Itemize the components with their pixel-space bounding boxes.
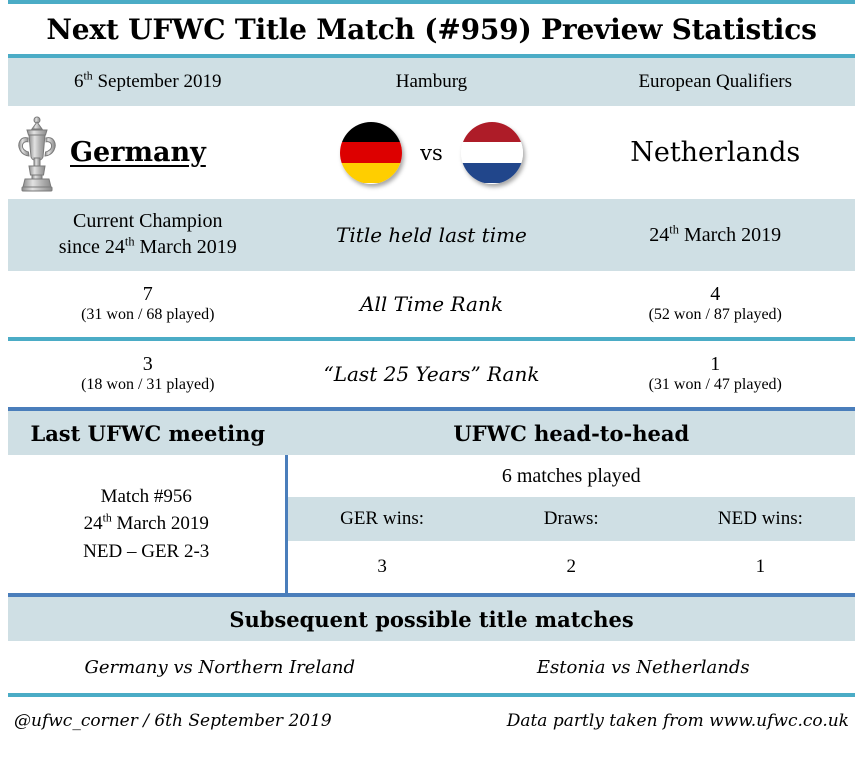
page-title-container: Next UFWC Title Match (#959) Preview Sta… [8, 4, 855, 54]
match-date-rest: September 2019 [93, 71, 222, 92]
away-all-time-rank-detail: (52 won / 87 played) [575, 306, 855, 324]
home-champion-label: Current Champion [8, 209, 288, 235]
match-venue: Hamburg [288, 71, 576, 93]
teams-row: Germany vs Netherlands [8, 106, 855, 199]
away-last25-rank-detail: (31 won / 47 played) [575, 376, 855, 394]
footer: @ufwc_corner / 6th September 2019 Data p… [8, 697, 855, 745]
h2h-header-ger-wins: GER wins: [288, 508, 477, 530]
match-meta-row: 6th September 2019 Hamburg European Qual… [8, 58, 855, 106]
away-all-time-rank: 4 (52 won / 87 played) [575, 283, 855, 324]
h2h-header-draws: Draws: [477, 508, 666, 530]
match-date-ordinal: th [84, 70, 93, 83]
h2h-header-ned-wins: NED wins: [666, 508, 855, 530]
away-last25-rank: 1 (31 won / 47 played) [575, 353, 855, 394]
last-meeting-header: Last UFWC meeting [8, 421, 288, 446]
page-title: Next UFWC Title Match (#959) Preview Sta… [46, 13, 816, 46]
away-team-name: Netherlands [575, 137, 855, 168]
h2h-value-ned-wins: 1 [666, 556, 855, 578]
last-meeting-date: 24th March 2019 [83, 510, 209, 538]
h2h-value-ger-wins: 3 [288, 556, 477, 578]
head-to-head-header: UFWC head-to-head [288, 421, 855, 446]
last-meeting-score: NED – GER 2-3 [83, 538, 209, 566]
home-last25-rank-value: 3 [8, 353, 288, 376]
match-date: 6th September 2019 [8, 71, 288, 93]
subsequent-header: Subsequent possible title matches [8, 597, 855, 641]
last-meeting-match-number: Match #956 [83, 483, 209, 511]
home-title-held: Current Champion since 24th March 2019 [8, 209, 288, 260]
footer-credit: @ufwc_corner / 6th September 2019 [14, 711, 332, 731]
match-date-number: 6 [74, 71, 84, 92]
trophy-icon [10, 111, 64, 195]
h2h-value-row: 3 2 1 [288, 541, 855, 593]
h2h-value-draws: 2 [477, 556, 666, 578]
title-held-label: Title held last time [288, 223, 576, 247]
footer-source: Data partly taken from www.ufwc.co.uk [507, 711, 849, 731]
subsequent-match-1: Germany vs Northern Ireland [8, 657, 432, 678]
home-team-name: Germany [70, 137, 206, 168]
home-team-block: Germany [8, 111, 288, 195]
last25-rank-row: 3 (18 won / 31 played) “Last 25 Years” R… [8, 341, 855, 407]
home-all-time-rank-detail: (31 won / 68 played) [8, 306, 288, 324]
title-held-row: Current Champion since 24th March 2019 T… [8, 199, 855, 271]
last-meeting-details: Match #956 24th March 2019 NED – GER 2-3 [8, 455, 288, 593]
infographic-sheet: Next UFWC Title Match (#959) Preview Sta… [0, 0, 863, 779]
last25-rank-label: “Last 25 Years” Rank [288, 362, 576, 386]
all-time-rank-label: All Time Rank [288, 292, 576, 316]
h2h-stats: 6 matches played GER wins: Draws: NED wi… [288, 455, 855, 593]
away-last25-rank-value: 1 [575, 353, 855, 376]
home-all-time-rank-value: 7 [8, 283, 288, 306]
h2h-body: Match #956 24th March 2019 NED – GER 2-3… [8, 455, 855, 593]
h2h-header-row: GER wins: Draws: NED wins: [288, 497, 855, 541]
netherlands-flag-icon [461, 122, 523, 184]
away-title-held: 24th March 2019 [575, 224, 855, 247]
h2h-headers-row: Last UFWC meeting UFWC head-to-head [8, 411, 855, 455]
subsequent-match-2: Estonia vs Netherlands [432, 657, 856, 678]
home-last25-rank: 3 (18 won / 31 played) [8, 353, 288, 394]
home-champion-since: since 24th March 2019 [8, 235, 288, 261]
away-all-time-rank-value: 4 [575, 283, 855, 306]
flags-block: vs [288, 122, 576, 184]
germany-flag-icon [340, 122, 402, 184]
home-all-time-rank: 7 (31 won / 68 played) [8, 283, 288, 324]
all-time-rank-row: 7 (31 won / 68 played) All Time Rank 4 (… [8, 271, 855, 337]
versus-label: vs [420, 141, 443, 165]
h2h-total-matches: 6 matches played [288, 455, 855, 497]
home-last25-rank-detail: (18 won / 31 played) [8, 376, 288, 394]
subsequent-matches-row: Germany vs Northern Ireland Estonia vs N… [8, 641, 855, 693]
match-competition: European Qualifiers [575, 71, 855, 93]
